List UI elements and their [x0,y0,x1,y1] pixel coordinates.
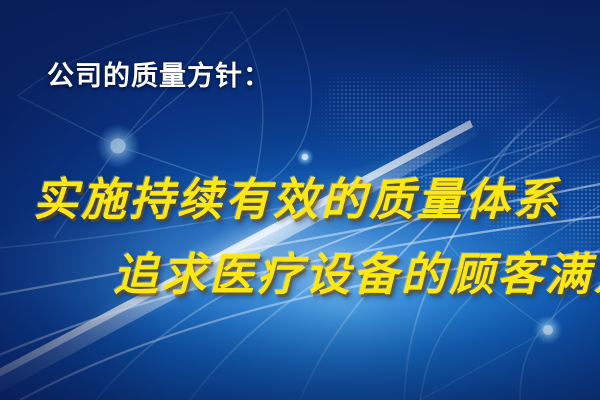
policy-line-2: 追求医疗设备的顾客满意 [113,238,600,303]
page-title: 公司的质量方针： [47,54,271,93]
quality-policy-banner: 公司的质量方针： 实施持续有效的质量体系 追求医疗设备的顾客满意 [0,0,600,400]
policy-line-1: 实施持续有效的质量体系 [33,163,561,228]
